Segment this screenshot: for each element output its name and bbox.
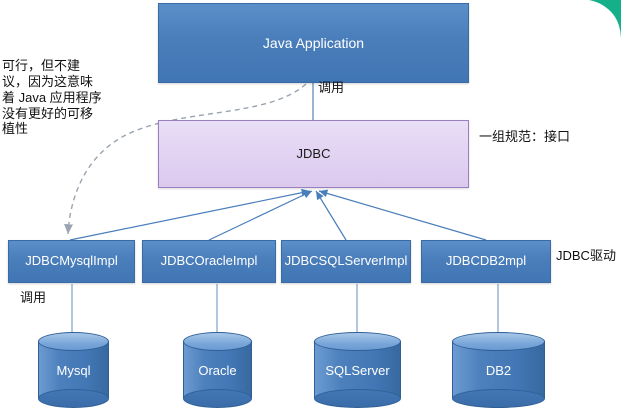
node-java-application-label: Java Application: [263, 35, 364, 51]
node-database-oracle-label: Oracle: [198, 363, 236, 378]
node-driver-jdbcsqlserverimpl[interactable]: JDBCSQLServerImpl: [281, 240, 411, 283]
node-driver-jdbcsqlserverimpl-label: JDBCSQLServerImpl: [285, 254, 408, 269]
node-database-sqlserver-label: SQLServer: [325, 363, 389, 378]
node-database-db2-label: DB2: [486, 363, 511, 378]
annotation-call-bottom: 调用: [20, 290, 46, 306]
node-jdbc-label: JDBC: [297, 147, 331, 162]
node-driver-jdbcoracleimpl-label: JDBCOracleImpl: [161, 254, 258, 269]
node-database-mysql[interactable]: Mysql: [38, 332, 109, 408]
node-driver-jdbcmysqlimpl[interactable]: JDBCMysqlImpl: [8, 240, 135, 283]
annotation-spec-interface: 一组规范：接口: [479, 129, 570, 145]
node-driver-jdbcdb2mpl-label: JDBCDB2mpl: [446, 254, 526, 269]
node-database-mysql-label: Mysql: [57, 363, 91, 378]
annotation-jdbc-driver: JDBC驱动: [556, 248, 616, 264]
wire-mysql-driver-to-jdbc: [70, 191, 310, 240]
annotation-call-top: 调用: [318, 80, 344, 96]
node-database-oracle[interactable]: Oracle: [183, 332, 252, 408]
wire-db2-driver-to-jdbc: [319, 191, 486, 240]
diagram-canvas: Java Application JDBC JDBCMysqlImpl JDBC…: [0, 0, 621, 410]
wire-sqlserver-driver-to-jdbc: [316, 191, 346, 240]
wire-oracle-driver-to-jdbc: [209, 191, 312, 240]
annotation-left-note: 可行，但不建议，因为这意味着 Java 应用程序没有更好的可移植性: [2, 58, 104, 137]
node-driver-jdbcdb2mpl[interactable]: JDBCDB2mpl: [421, 240, 551, 283]
node-driver-jdbcmysqlimpl-label: JDBCMysqlImpl: [25, 254, 117, 269]
node-driver-jdbcoracleimpl[interactable]: JDBCOracleImpl: [142, 240, 276, 283]
node-java-application[interactable]: Java Application: [158, 3, 469, 83]
node-database-db2[interactable]: DB2: [452, 332, 545, 408]
node-jdbc[interactable]: JDBC: [158, 120, 469, 188]
node-database-sqlserver[interactable]: SQLServer: [314, 332, 401, 408]
